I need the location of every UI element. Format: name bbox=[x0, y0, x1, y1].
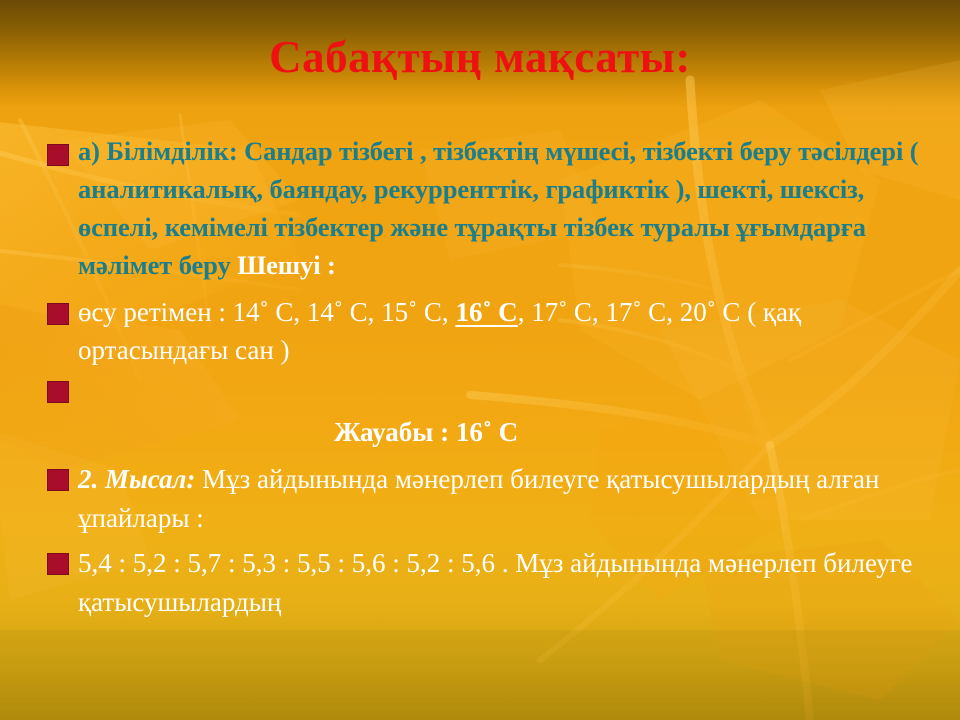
sequence-highlight-value: 16˚ C bbox=[455, 297, 517, 327]
slide-body: а) Білімділік: Сандар тізбегі , тізбекті… bbox=[44, 132, 924, 622]
objective-teal-text: а) Білімділік: Сандар тізбегі , тізбекті… bbox=[78, 136, 918, 280]
sequence-lead-text: өсу ретімен : 14˚ C, 14˚ C, 15˚ C, bbox=[78, 297, 455, 327]
bullet-item-scores: 5,4 : 5,2 : 5,7 : 5,3 : 5,5 : 5,6 : 5,2 … bbox=[44, 544, 924, 622]
objective-text: а) Білімділік: Сандар тізбегі , тізбекті… bbox=[78, 132, 924, 285]
page-title: Сабақтың мақсаты: bbox=[0, 33, 960, 83]
square-bullet-icon bbox=[47, 469, 69, 491]
sequence-text: өсу ретімен : 14˚ C, 14˚ C, 15˚ C, 16˚ C… bbox=[78, 293, 924, 370]
bullet-item-objective: а) Білімділік: Сандар тізбегі , тізбекті… bbox=[44, 132, 924, 285]
scores-text: 5,4 : 5,2 : 5,7 : 5,3 : 5,5 : 5,6 : 5,2 … bbox=[78, 544, 924, 622]
objective-white-text: Шешуі : bbox=[237, 250, 336, 280]
bullet-item-empty bbox=[44, 373, 924, 415]
example-2-body: Мұз айдынында мәнерлеп билеуге қатысушыл… bbox=[78, 464, 879, 533]
square-bullet-icon bbox=[47, 144, 69, 166]
bullet-item-example-2: 2. Мысал: Мұз айдынында мәнерлеп билеуге… bbox=[44, 460, 924, 538]
example-2-text: 2. Мысал: Мұз айдынында мәнерлеп билеуге… bbox=[78, 460, 924, 538]
presentation-slide: Сабақтың мақсаты: а) Білімділік: Сандар … bbox=[0, 0, 960, 720]
square-bullet-icon bbox=[47, 553, 69, 575]
answer-line: Жауабы : 16˚ C bbox=[44, 415, 924, 450]
square-bullet-icon bbox=[47, 303, 69, 325]
example-2-label: 2. Мысал: bbox=[78, 464, 195, 494]
square-bullet-icon bbox=[47, 381, 69, 403]
bullet-item-sequence: өсу ретімен : 14˚ C, 14˚ C, 15˚ C, 16˚ C… bbox=[44, 293, 924, 370]
